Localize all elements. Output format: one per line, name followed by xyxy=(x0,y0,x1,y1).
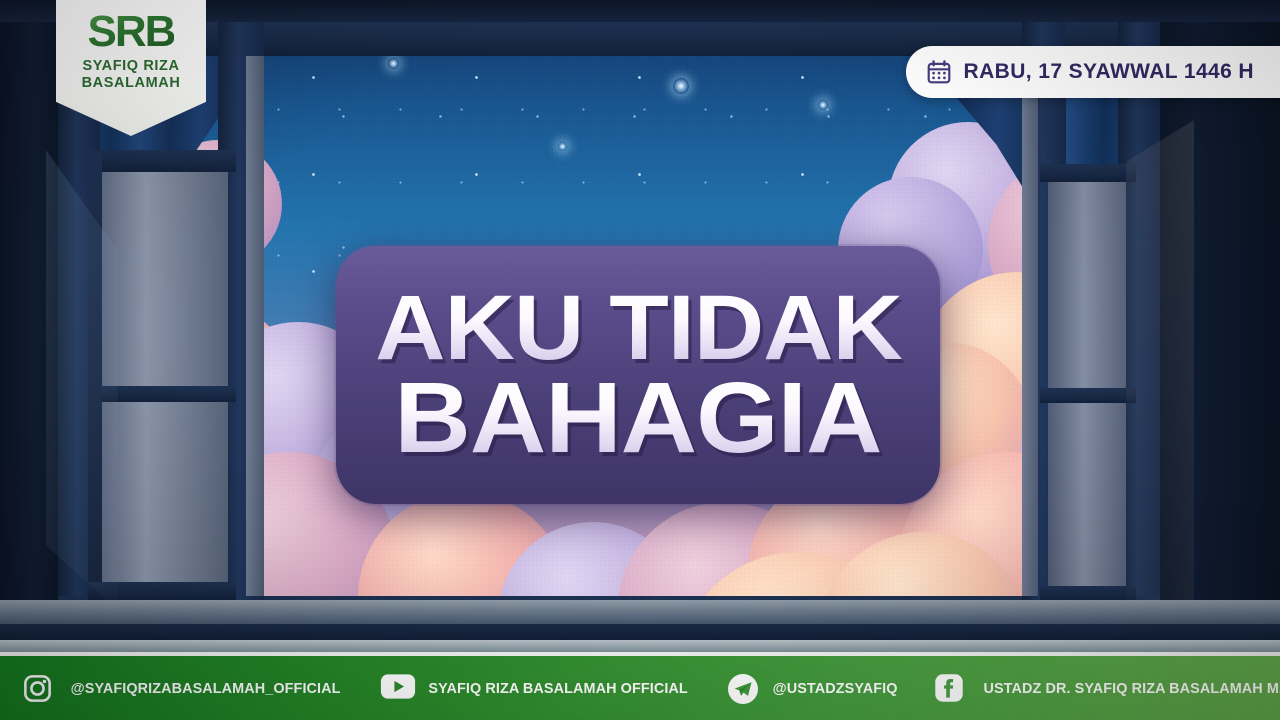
social-item-telegram[interactable]: @USTADZSYAFIQ xyxy=(727,673,900,704)
window-mullion-left-highlight xyxy=(246,56,264,596)
instagram-icon xyxy=(22,673,53,704)
social-label-facebook: USTADZ DR. SYAFIQ RIZA BASALAMAH MA. xyxy=(984,680,1280,697)
window-mullion-right-highlight xyxy=(1022,56,1038,596)
social-item-youtube[interactable]: SYAFIQ RIZA BASALAMAH OFFICIAL xyxy=(380,673,693,704)
social-item-instagram[interactable]: @SYAFIQRIZABASALAMAH_OFFICIAL xyxy=(22,673,346,704)
calendar-icon xyxy=(926,59,952,85)
star-glow xyxy=(558,142,567,151)
wall-right-lightspill xyxy=(1126,120,1194,640)
date-badge[interactable]: RABU, 17 SYAWWAL 1446 H xyxy=(906,46,1280,98)
sash-right-outer xyxy=(1048,170,1126,600)
logo-monogram: SRB xyxy=(88,10,175,54)
title-line-1: AKU TIDAK xyxy=(375,286,902,371)
window-sill-top xyxy=(0,600,1280,626)
star-glow xyxy=(388,58,399,69)
star-glow xyxy=(673,78,689,94)
facebook-icon xyxy=(934,673,965,704)
star-glow xyxy=(818,100,828,110)
social-label-instagram: @SYAFIQRIZABASALAMAH_OFFICIAL xyxy=(71,680,341,697)
social-item-facebook[interactable]: USTADZ DR. SYAFIQ RIZA BASALAMAH MA. xyxy=(934,673,1280,704)
telegram-icon xyxy=(727,673,758,704)
logo-name-line2: BASALAMAH xyxy=(82,75,181,92)
sash-right-head xyxy=(1040,164,1136,182)
poster-canvas: AKU TIDAK BAHAGIA RABU, 17 SYAWWAL 1446 … xyxy=(0,0,1280,720)
logo-name-line1: SYAFIQ RIZA xyxy=(82,58,179,75)
social-label-youtube: SYAFIQ RIZA BASALAMAH OFFICIAL xyxy=(429,680,688,697)
title-plaque: AKU TIDAK BAHAGIA xyxy=(336,246,940,504)
social-label-telegram: @USTADZSYAFIQ xyxy=(773,680,898,697)
date-text: RABU, 17 SYAWWAL 1446 H xyxy=(964,60,1254,84)
social-footer-bar: @SYAFIQRIZABASALAMAH_OFFICIAL SYAFIQ RIZ… xyxy=(0,656,1280,720)
title-line-2: BAHAGIA xyxy=(394,372,881,464)
youtube-icon xyxy=(380,673,411,704)
sash-left-head xyxy=(88,150,236,172)
sash-right-rail-mid xyxy=(1040,388,1136,403)
